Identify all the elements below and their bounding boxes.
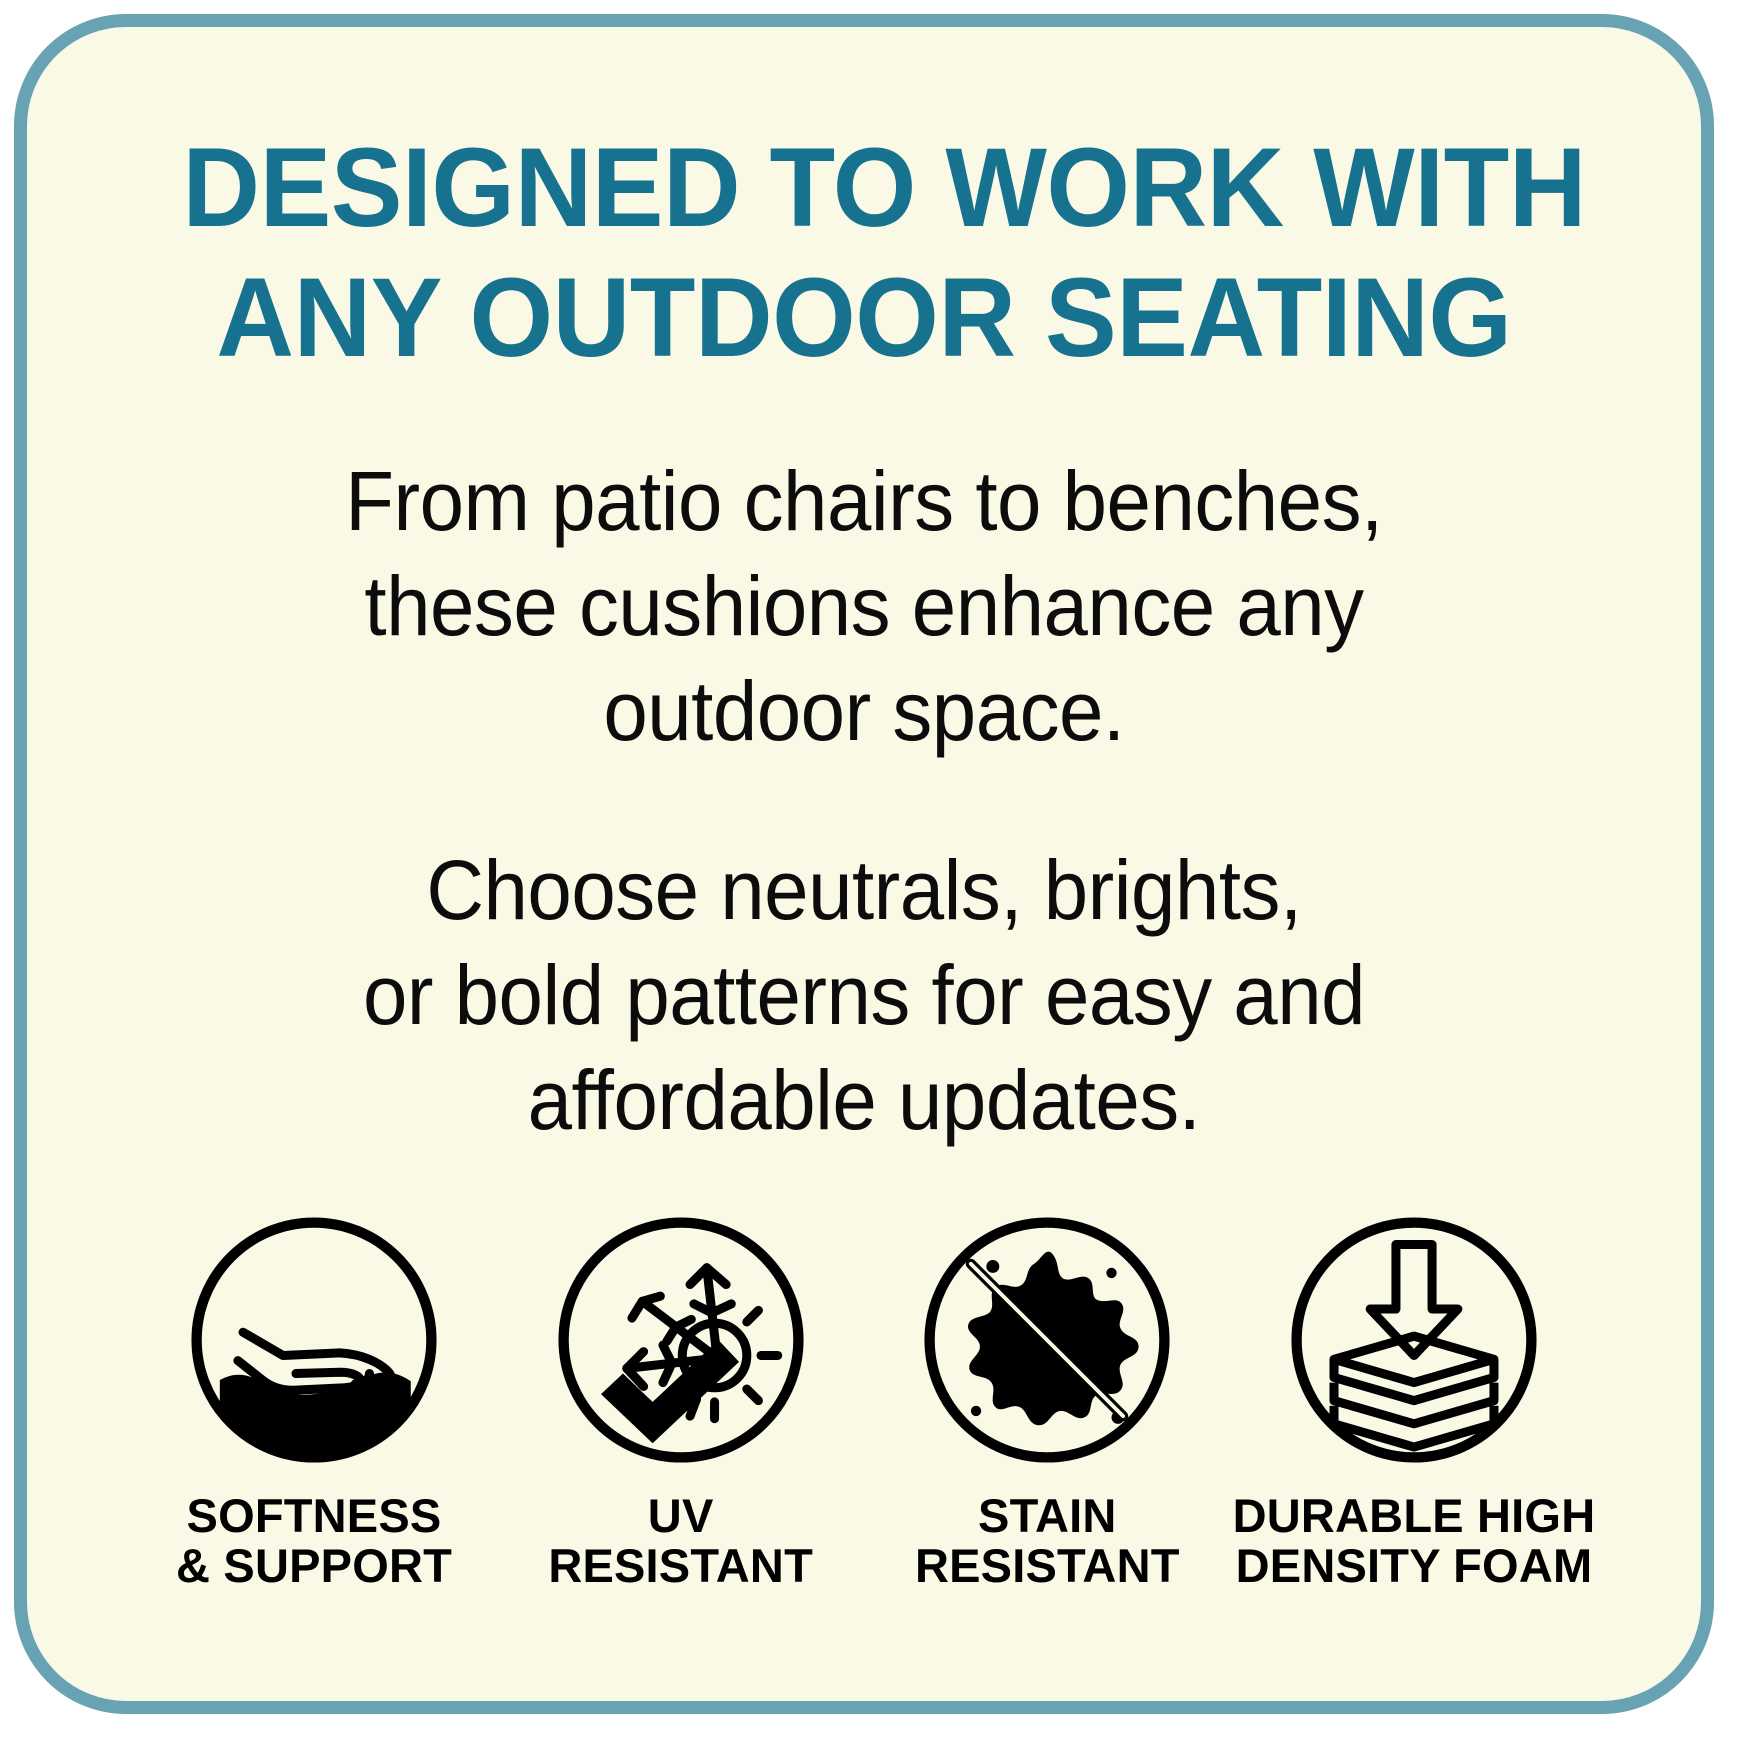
paragraph-2-line-1: Choose neutrals, brights, xyxy=(266,838,1463,943)
feature-label-line-1: DURABLE HIGH xyxy=(1233,1491,1596,1541)
feature-label-line-2: DENSITY FOAM xyxy=(1233,1541,1596,1591)
feature-uv-resistant-label: UV RESISTANT xyxy=(548,1491,813,1591)
feature-uv-resistant: UV RESISTANT xyxy=(516,1211,846,1591)
feature-label-line-2: RESISTANT xyxy=(548,1541,813,1591)
feature-softness-support: SOFTNESS & SUPPORT xyxy=(149,1211,479,1591)
infographic-card: DESIGNED TO WORK WITH ANY OUTDOOR SEATIN… xyxy=(14,14,1714,1714)
body-copy: From patio chairs to benches, these cush… xyxy=(234,449,1494,1153)
page-title-line-2: ANY OUTDOOR SEATING xyxy=(182,253,1545,383)
hand-pressing-cushion-icon xyxy=(185,1211,443,1469)
feature-durable-foam-label: DURABLE HIGH DENSITY FOAM xyxy=(1233,1491,1596,1591)
paragraph-1-line-3: outdoor space. xyxy=(266,659,1463,764)
page-title: DESIGNED TO WORK WITH ANY OUTDOOR SEATIN… xyxy=(182,123,1545,383)
feature-durable-foam: DURABLE HIGH DENSITY FOAM xyxy=(1249,1211,1579,1591)
paragraph-1-line-2: these cushions enhance any xyxy=(266,554,1463,659)
sun-snowflake-check-icon xyxy=(552,1211,810,1469)
no-stain-splat-icon xyxy=(918,1211,1176,1469)
feature-label-line-1: STAIN xyxy=(915,1491,1180,1541)
arrow-into-foam-layers-icon xyxy=(1285,1211,1543,1469)
feature-label-line-2: RESISTANT xyxy=(915,1541,1180,1591)
feature-softness-support-label: SOFTNESS & SUPPORT xyxy=(176,1491,452,1591)
feature-label-line-2: & SUPPORT xyxy=(176,1541,452,1591)
page-title-line-1: DESIGNED TO WORK WITH xyxy=(182,123,1545,253)
feature-badges-row: SOFTNESS & SUPPORT xyxy=(149,1211,1579,1591)
paragraph-2: Choose neutrals, brights, or bold patter… xyxy=(266,838,1463,1153)
paragraph-1: From patio chairs to benches, these cush… xyxy=(266,449,1463,764)
paragraph-2-line-3: affordable updates. xyxy=(266,1048,1463,1153)
feature-label-line-1: UV xyxy=(548,1491,813,1541)
feature-label-line-1: SOFTNESS xyxy=(176,1491,452,1541)
feature-stain-resistant: STAIN RESISTANT xyxy=(882,1211,1212,1591)
paragraph-2-line-2: or bold patterns for easy and xyxy=(266,943,1463,1048)
paragraph-1-line-1: From patio chairs to benches, xyxy=(266,449,1463,554)
feature-stain-resistant-label: STAIN RESISTANT xyxy=(915,1491,1180,1591)
